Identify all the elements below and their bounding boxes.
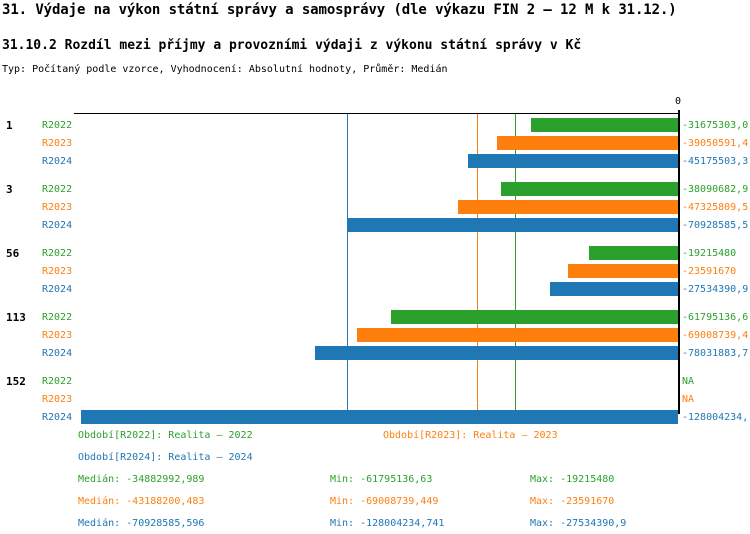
gridline-median-r2024 [347,114,348,414]
value-label-113-r2023: -69008739,4 [682,330,748,341]
bar-113-r2023[interactable] [357,328,678,342]
legend-item-r2024: Období[R2024]: Realita – 2024 [78,452,253,463]
series-label-r2022: R2022 [42,184,72,195]
series-label-r2024: R2024 [42,156,72,167]
chart-legend-and-stats: Období[R2022]: Realita – 2022 Období[R20… [0,424,750,534]
group-label-3: 3 [6,183,13,196]
axis-top-rule [74,113,679,114]
value-label-56-r2023: -23591670 [682,266,736,277]
bar-chart: 0 1R2022-31675303,0R2023-39050591,4R2024… [0,96,750,416]
value-label-56-r2024: -27534390,9 [682,284,748,295]
series-label-r2023: R2023 [42,266,72,277]
group-label-56: 56 [6,247,19,260]
legend-item-r2022: Období[R2022]: Realita – 2022 [78,430,253,441]
stat-min-r2024: Min: -128004234,741 [330,518,444,529]
bar-113-r2024[interactable] [315,346,678,360]
series-label-r2024: R2024 [42,348,72,359]
bar-1-r2024[interactable] [468,154,678,168]
value-label-1-r2022: -31675303,0 [682,120,748,131]
group-label-152: 152 [6,375,26,388]
legend-item-r2023: Období[R2023]: Realita – 2023 [383,430,558,441]
bar-3-r2022[interactable] [501,182,678,196]
value-label-3-r2022: -38090682,9 [682,184,748,195]
series-label-r2023: R2023 [42,394,72,405]
value-label-113-r2024: -78031883,7 [682,348,748,359]
stat-median-r2024: Medián: -70928585,596 [78,518,204,529]
group-label-1: 1 [6,119,13,132]
series-label-r2022: R2022 [42,376,72,387]
value-label-1-r2024: -45175503,3 [682,156,748,167]
stat-median-r2023: Medián: -43188200,483 [78,496,204,507]
value-label-152-r2023: NA [682,394,694,405]
bar-3-r2024[interactable] [348,218,678,232]
value-label-56-r2022: -19215480 [682,248,736,259]
page-title: 31. Výdaje na výkon státní správy a samo… [2,2,677,18]
series-label-r2022: R2022 [42,120,72,131]
stat-max-r2022: Max: -19215480 [530,474,614,485]
value-label-1-r2023: -39050591,4 [682,138,748,149]
bar-56-r2022[interactable] [589,246,678,260]
value-label-3-r2023: -47325809,5 [682,202,748,213]
bar-3-r2023[interactable] [458,200,678,214]
bar-113-r2022[interactable] [391,310,678,324]
series-label-r2023: R2023 [42,202,72,213]
value-label-152-r2024: -128004234, [682,412,748,423]
series-label-r2023: R2023 [42,138,72,149]
group-label-113: 113 [6,311,26,324]
stat-max-r2024: Max: -27534390,9 [530,518,626,529]
stat-min-r2022: Min: -61795136,63 [330,474,432,485]
bar-56-r2024[interactable] [550,282,678,296]
series-label-r2024: R2024 [42,284,72,295]
series-label-r2022: R2022 [42,312,72,323]
bar-1-r2023[interactable] [497,136,678,150]
value-label-152-r2022: NA [682,376,694,387]
chart-subtitle: 31.10.2 Rozdíl mezi příjmy a provozními … [2,38,581,53]
stat-max-r2023: Max: -23591670 [530,496,614,507]
bar-152-r2024[interactable] [81,410,678,424]
series-label-r2024: R2024 [42,412,72,423]
series-label-r2023: R2023 [42,330,72,341]
series-label-r2022: R2022 [42,248,72,259]
stat-min-r2023: Min: -69008739,449 [330,496,438,507]
axis-zero-line [678,110,680,414]
stat-median-r2022: Medián: -34882992,989 [78,474,204,485]
axis-zero-label: 0 [675,96,681,107]
value-label-3-r2024: -70928585,5 [682,220,748,231]
value-label-113-r2022: -61795136,6 [682,312,748,323]
bar-56-r2023[interactable] [568,264,678,278]
series-label-r2024: R2024 [42,220,72,231]
bar-1-r2022[interactable] [531,118,678,132]
chart-meta-line: Typ: Počítaný podle vzorce, Vyhodnocení:… [2,64,448,75]
